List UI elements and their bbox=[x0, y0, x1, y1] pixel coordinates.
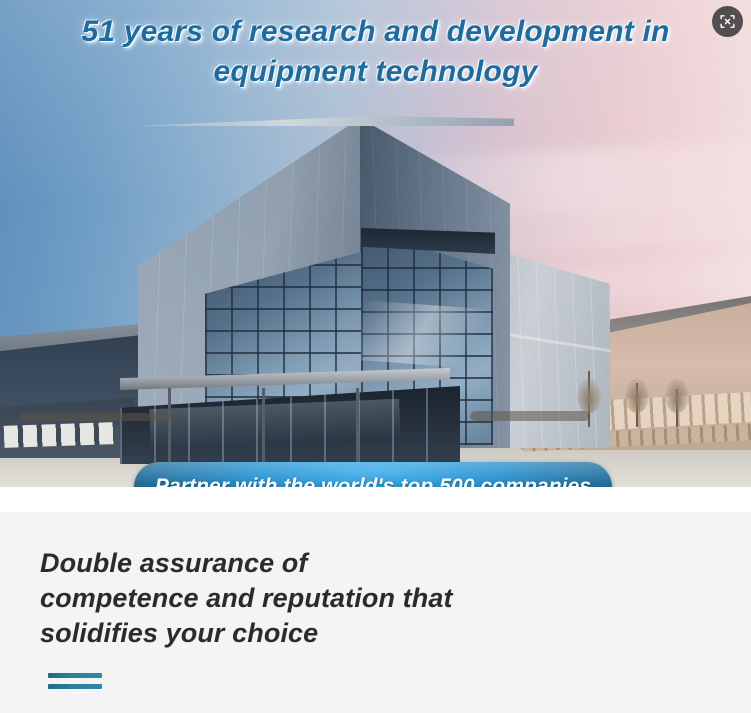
shrub bbox=[20, 413, 170, 421]
shrub bbox=[470, 411, 590, 421]
canopy-post bbox=[262, 388, 265, 464]
hero-banner: 51 years of research and development in … bbox=[0, 0, 751, 487]
canopy-post bbox=[356, 388, 359, 464]
divider-bar bbox=[48, 684, 102, 689]
left-shed-windows bbox=[4, 422, 115, 448]
section-heading: Double assurance of competence and reput… bbox=[40, 546, 660, 651]
page-root: 51 years of research and development in … bbox=[0, 0, 751, 713]
scan-fullscreen-button[interactable] bbox=[712, 6, 743, 37]
tree bbox=[676, 389, 678, 427]
divider-bar bbox=[48, 673, 102, 678]
hero-headline: 51 years of research and development in … bbox=[0, 12, 751, 92]
scan-fullscreen-icon bbox=[719, 13, 736, 30]
white-separator bbox=[0, 487, 751, 512]
tree bbox=[636, 383, 638, 427]
canopy-post bbox=[168, 388, 171, 464]
double-bar-divider bbox=[48, 673, 102, 689]
content-section: Double assurance of competence and reput… bbox=[0, 512, 751, 713]
glass-reflection bbox=[361, 300, 495, 370]
